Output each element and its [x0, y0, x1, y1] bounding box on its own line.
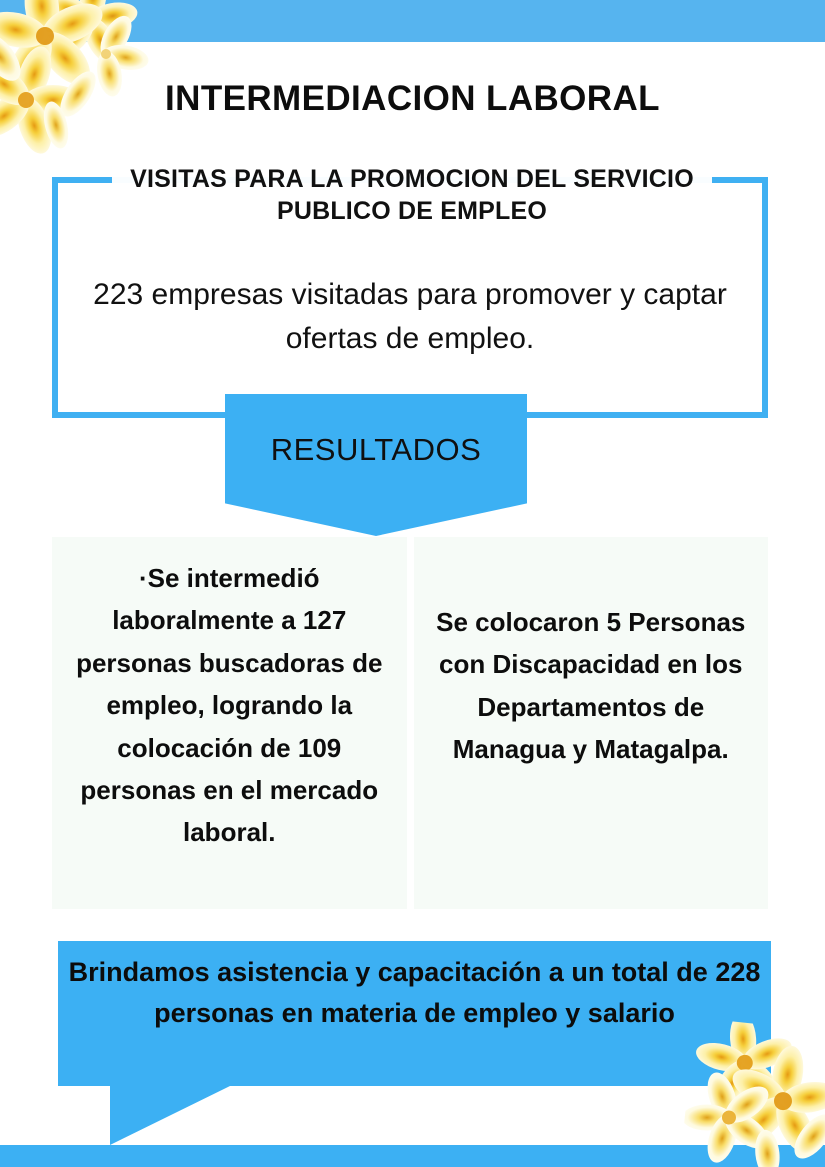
result-panel-intermediacion: ·Se intermedió laboralmente a 127 person… — [52, 537, 407, 909]
result-panel-intermediacion-text: ·Se intermedió laboralmente a 127 person… — [63, 557, 396, 854]
result-panel-discapacidad-text: Se colocaron 5 Personas con Discapacidad… — [424, 557, 757, 771]
top-blue-strip — [0, 0, 825, 42]
page-subtitle: VISITAS PARA LA PROMOCION DEL SERVICIO P… — [112, 161, 712, 230]
results-panels: ·Se intermedió laboralmente a 127 person… — [52, 537, 768, 909]
footer-speech-bubble-tail — [110, 1086, 230, 1145]
bottom-blue-strip — [0, 1145, 825, 1167]
page-title: INTERMEDIACION LABORAL — [0, 80, 825, 119]
infographic-poster: INTERMEDIACION LABORAL VISITAS PARA LA P… — [0, 0, 825, 1167]
result-panel-discapacidad: Se colocaron 5 Personas con Discapacidad… — [414, 537, 769, 909]
resultados-ribbon-label: RESULTADOS — [225, 432, 527, 468]
highlight-box-text: 223 empresas visitadas para promover y c… — [52, 273, 768, 360]
footer-speech-bubble-text: Brindamos asistencia y capacitación a un… — [58, 952, 771, 1035]
